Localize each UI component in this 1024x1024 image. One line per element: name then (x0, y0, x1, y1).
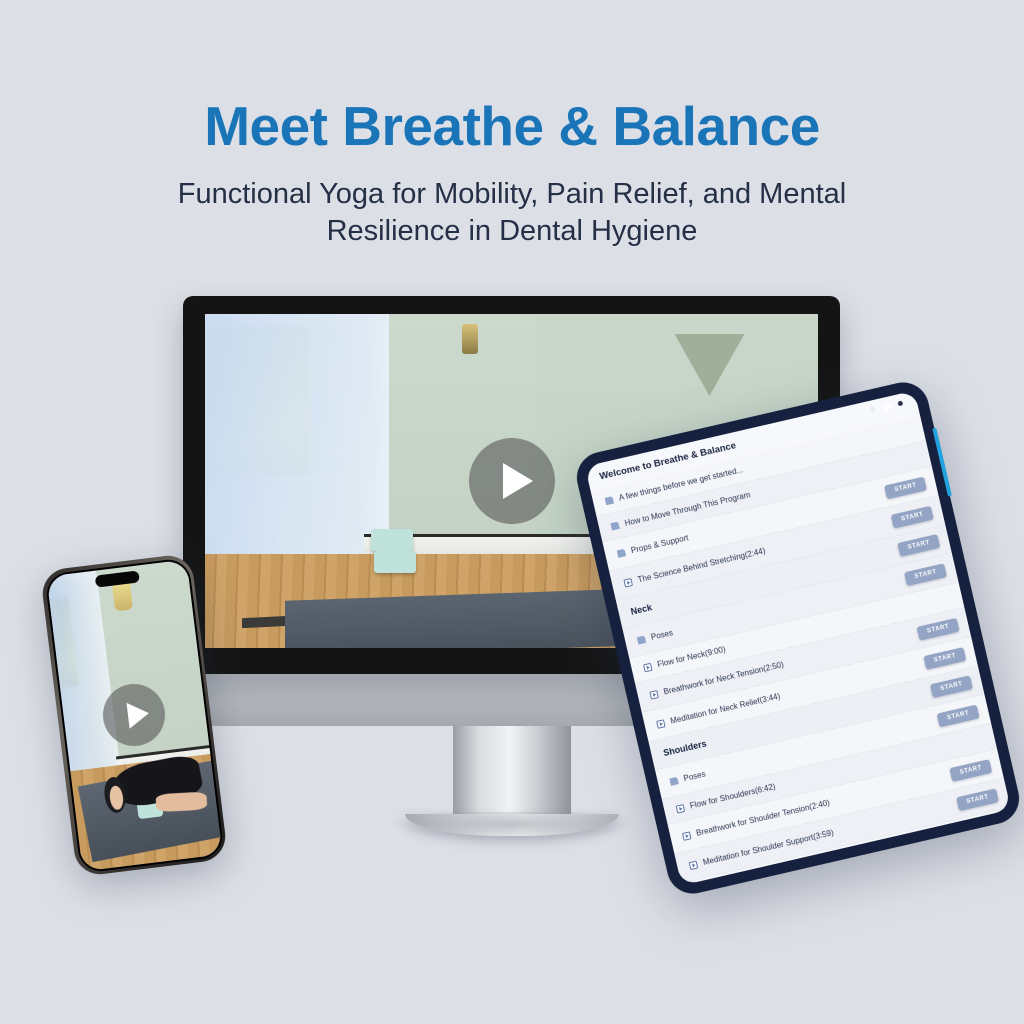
start-button[interactable]: START (904, 563, 947, 586)
start-button[interactable]: START (970, 846, 1011, 869)
video-icon (643, 662, 653, 672)
monitor-stand-neck (453, 726, 571, 814)
sconce-icon (462, 324, 478, 354)
camera-dot-icon (870, 407, 876, 413)
start-button-slot: START (937, 704, 979, 727)
video-icon (689, 860, 699, 870)
document-icon (604, 496, 614, 506)
video-icon (649, 690, 659, 700)
curtain-overlay (205, 314, 389, 588)
document-icon (617, 548, 627, 558)
video-icon (656, 719, 666, 729)
start-button-slot: START (885, 476, 927, 499)
video-icon (682, 831, 692, 841)
start-button-slot: START (964, 817, 1006, 840)
vase-icon (112, 584, 133, 612)
start-button-slot: START (892, 505, 934, 528)
practitioner-arm (156, 792, 208, 812)
video-icon (623, 577, 633, 587)
promo-graphic: Meet Breathe & Balance Functional Yoga f… (0, 0, 1024, 1024)
start-button-slot (874, 430, 913, 439)
document-icon (610, 521, 620, 531)
start-button[interactable]: START (956, 788, 999, 811)
document-icon (637, 635, 647, 645)
start-button[interactable]: START (937, 704, 980, 727)
phone-screen (46, 559, 222, 871)
yoga-block-bottom (374, 551, 417, 573)
start-button[interactable]: START (884, 476, 927, 499)
start-button-slot: START (898, 534, 940, 557)
play-icon (503, 463, 533, 499)
video-icon (676, 804, 686, 814)
page-subtitle: Functional Yoga for Mobility, Pain Relie… (117, 176, 907, 250)
start-button[interactable]: START (924, 647, 967, 670)
start-button-slot: START (917, 617, 959, 640)
start-button[interactable]: START (898, 534, 941, 557)
start-button[interactable]: START (930, 675, 973, 698)
start-button-slot: START (950, 759, 992, 782)
monitor-stand-foot (405, 814, 619, 836)
play-icon (126, 700, 150, 728)
start-button[interactable]: START (950, 759, 993, 782)
start-button-slot (880, 456, 919, 465)
sensor-dot-icon (897, 400, 903, 406)
start-button-slot: START (905, 563, 947, 586)
start-button-slot: START (931, 675, 973, 698)
start-button[interactable]: START (963, 817, 1006, 840)
start-button[interactable]: START (891, 505, 934, 528)
play-button-monitor[interactable] (469, 438, 555, 524)
document-icon (669, 776, 679, 786)
start-button-slot (913, 597, 952, 606)
start-button-slot: START (924, 647, 966, 670)
start-button-slot: START (970, 846, 1011, 869)
yoga-video-frame-phone (46, 559, 222, 871)
page-title: Meet Breathe & Balance (0, 99, 1024, 154)
yoga-block-top (371, 529, 414, 551)
start-button-slot: START (957, 788, 999, 811)
start-button[interactable]: START (917, 617, 960, 640)
start-button-slot (945, 738, 984, 747)
